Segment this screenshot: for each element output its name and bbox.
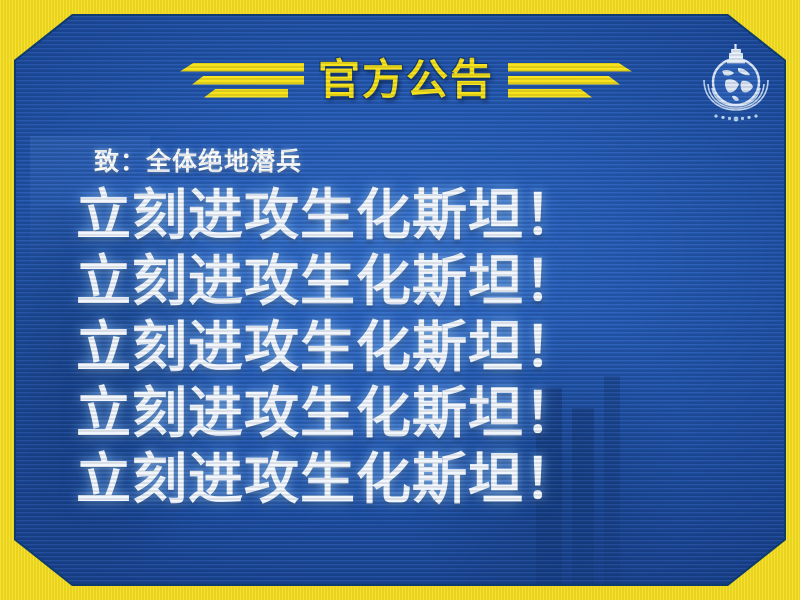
super-earth-globe-emblem-icon [698, 40, 774, 124]
slogan-line: 立刻进攻生化斯坦！ [76, 380, 776, 446]
slogan-line: 立刻进攻生化斯坦！ [76, 314, 776, 380]
wing-bar [508, 76, 620, 85]
wing-bar [180, 63, 304, 72]
header: 官方公告 [16, 50, 784, 110]
wing-bar [204, 89, 288, 98]
slogan-line: 立刻进攻生化斯坦！ [76, 446, 776, 512]
chevron-wing-right-icon [508, 63, 632, 98]
page-title: 官方公告 [318, 59, 494, 101]
announcement-poster: 官方公告 [0, 0, 800, 600]
wing-bar [508, 89, 592, 98]
wing-bar [192, 76, 304, 85]
slogan-list: 立刻进攻生化斯坦！ 立刻进攻生化斯坦！ 立刻进攻生化斯坦！ 立刻进攻生化斯坦！ … [76, 182, 776, 512]
announcement-panel: 官方公告 [16, 16, 784, 584]
addressee-line: 致：全体绝地潜兵 [94, 142, 302, 178]
slogan-line: 立刻进攻生化斯坦！ [76, 182, 776, 248]
wing-bar [508, 63, 632, 72]
header-inner: 官方公告 [146, 50, 666, 110]
slogan-line: 立刻进攻生化斯坦！ [76, 248, 776, 314]
panel-border: 官方公告 [14, 14, 786, 586]
chevron-wing-left-icon [180, 63, 304, 98]
